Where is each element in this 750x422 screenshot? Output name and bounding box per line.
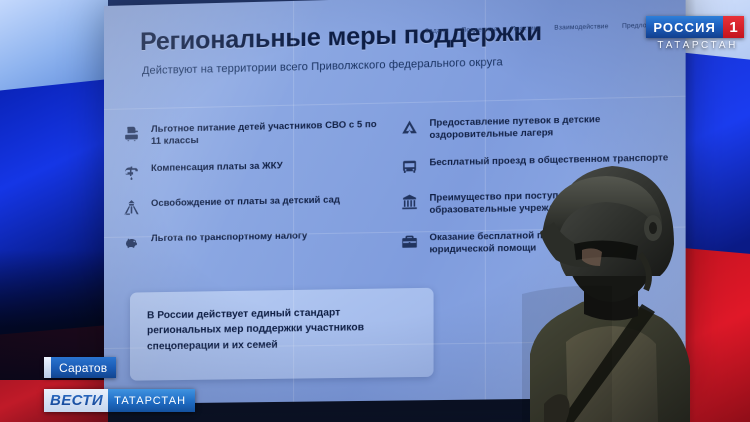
program-logo: ВЕСТИ ТАТАРСТАН [44, 389, 195, 412]
highlight-card-text: В России действует единый стандарт регио… [147, 304, 417, 354]
benefit-item: Льготное питание детей участников СВО с … [122, 118, 386, 148]
city-badge-accent [44, 357, 51, 378]
benefit-text: Компенсация платы за ЖКУ [151, 159, 283, 174]
nav-item-podderzhka[interactable]: Поддержка [461, 26, 497, 34]
program-region: ТАТАРСТАН [108, 389, 195, 412]
city-badge: Саратов [44, 357, 116, 378]
benefit-text: Освобождение от платы за детский сад [151, 193, 340, 209]
nav-item-vzaimodeystvie[interactable]: Взаимодействие [554, 23, 608, 32]
channel-region-label: ТАТАРСТАН [657, 40, 738, 51]
briefcase-icon [400, 232, 419, 252]
school-icon [400, 193, 419, 213]
broadcast-frame: Региональные меры поддержки Действуют на… [0, 0, 750, 422]
benefit-item: Освобождение от платы за детский сад [122, 193, 386, 218]
program-name-block: ВЕСТИ [44, 389, 108, 412]
nav-item-zadachi[interactable]: Задачи [425, 27, 448, 35]
faucet-icon [122, 163, 141, 182]
slide-subtitle: Действуют на территории всего Приволжско… [142, 53, 665, 78]
playground-icon [122, 198, 141, 217]
highlight-card: В России действует единый стандарт регио… [130, 288, 434, 381]
benefit-item: Компенсация платы за ЖКУ [122, 157, 386, 182]
channel-number: 1 [723, 16, 744, 38]
benefit-item: Льгота по транспортному налогу [122, 228, 386, 253]
benefit-text: Льгота по транспортному налогу [151, 229, 307, 244]
benefit-text: Льготное питание детей участников СВО с … [151, 118, 386, 147]
benefits-left-column: Льготное питание детей участников СВО с … [122, 118, 386, 261]
piggy-bank-icon [122, 233, 141, 252]
program-name: ВЕСТИ [50, 392, 103, 409]
channel-name: РОССИЯ [646, 16, 723, 38]
soldier-photo [522, 104, 697, 422]
city-badge-label: Саратов [51, 357, 116, 378]
tent-icon [400, 118, 419, 138]
nav-item-praktiki[interactable]: Практики [511, 25, 541, 33]
slide-title: Региональные меры поддержки [140, 16, 665, 56]
bus-icon [400, 158, 419, 178]
food-tray-icon [122, 124, 141, 143]
channel-logo: РОССИЯ 1 [646, 16, 744, 38]
